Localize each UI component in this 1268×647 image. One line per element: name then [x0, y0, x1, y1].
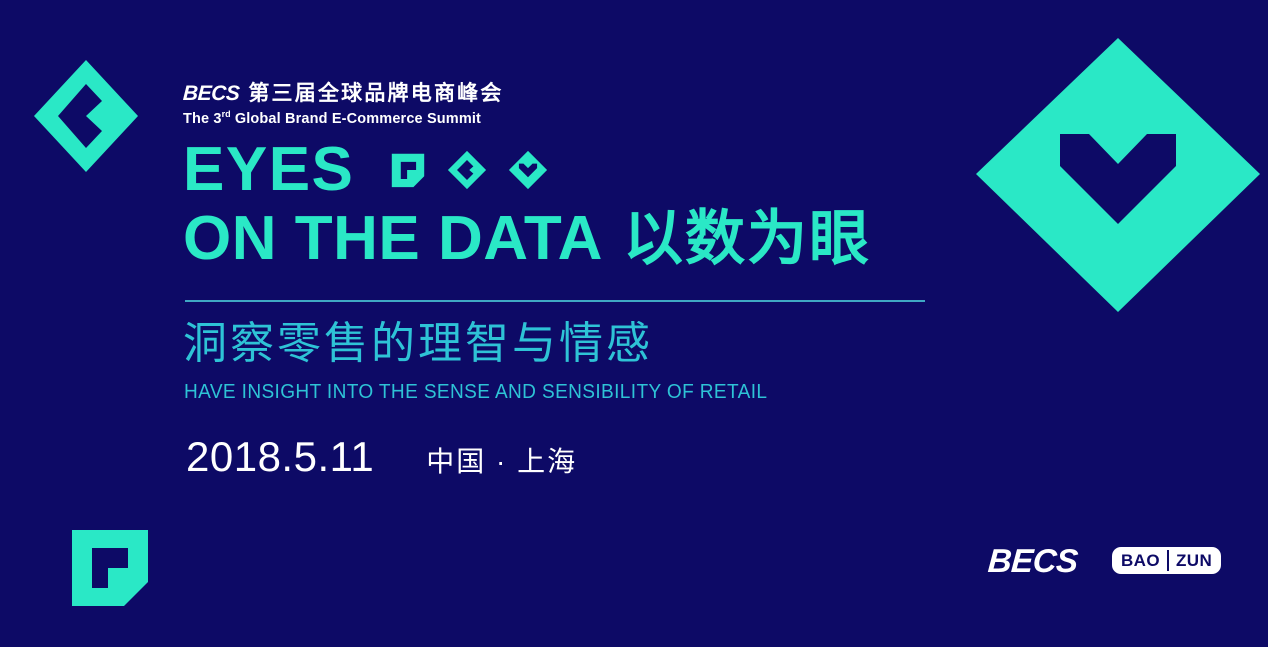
- divider-rule: [185, 300, 925, 302]
- subtitle-en: HAVE INSIGHT INTO THE SENSE AND SENSIBIL…: [184, 380, 767, 404]
- event-location: 中国 · 上海: [426, 440, 577, 480]
- header-title-en-suffix: Global Brand E-Commerce Summit: [235, 111, 481, 127]
- diamond-heart-mark-icon: [972, 34, 1264, 316]
- hero-icon-group: [390, 150, 548, 190]
- footer-baozun-logo: BAO ZUN: [1112, 547, 1221, 574]
- header-title-en: The 3rd Global Brand E-Commerce Summit: [183, 110, 504, 126]
- summit-header-lockup: BECS 第三届全球品牌电商峰会 The 3rd Global Brand E-…: [183, 83, 504, 126]
- footer-becs-logo: BECS: [987, 542, 1079, 580]
- flag-square-icon: [390, 152, 426, 188]
- header-title-cn: 第三届全球品牌电商峰会: [248, 83, 503, 104]
- hero-headline: EYES ON THE DATA 以数为眼: [183, 140, 871, 270]
- diamond-heart-icon: [508, 150, 548, 190]
- header-title-en-ordinal: rd: [222, 109, 231, 119]
- hero-line-2-cn: 以数为眼: [623, 210, 871, 269]
- event-meta: 2018.5.11 中国 · 上海: [186, 433, 577, 481]
- hero-line-1: EYES: [183, 140, 871, 201]
- header-becs-wordmark: BECS: [182, 83, 239, 104]
- hero-line-2: ON THE DATA 以数为眼: [183, 209, 871, 270]
- header-title-en-prefix: The 3: [183, 111, 222, 127]
- subtitle-cn: 洞察零售的理智与情感: [183, 318, 653, 371]
- baozun-logo-left: BAO: [1114, 547, 1167, 574]
- baozun-logo-right: ZUN: [1169, 547, 1219, 574]
- hero-line-1-text: EYES: [183, 140, 354, 201]
- diamond-chevron-mark-icon: [28, 58, 140, 174]
- hero-line-2-text: ON THE DATA: [183, 209, 603, 270]
- header-title-row: BECS 第三届全球品牌电商峰会: [183, 83, 504, 104]
- event-poster: BECS 第三届全球品牌电商峰会 The 3rd Global Brand E-…: [0, 0, 1268, 647]
- diamond-chevron-icon: [447, 150, 487, 190]
- event-date: 2018.5.11: [186, 433, 374, 481]
- flag-square-mark-icon: [70, 528, 150, 608]
